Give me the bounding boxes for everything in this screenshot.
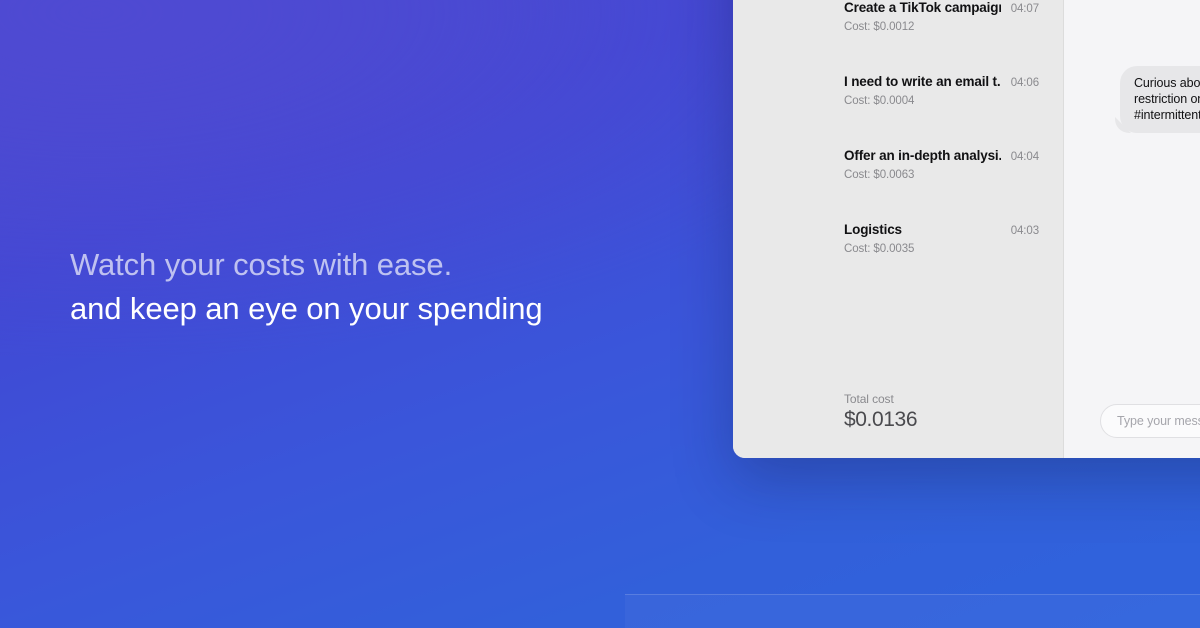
conversation-cost: Cost: $0.0035 xyxy=(844,243,1039,255)
conversation-header: Logistics 04:03 xyxy=(844,222,1039,237)
conversation-list-item[interactable]: Offer an in-depth analysi... 04:04 Cost:… xyxy=(733,148,1063,222)
hero-copy: Watch your costs with ease. and keep an … xyxy=(70,243,690,331)
message-thread: Curious about the effects of calorie res… xyxy=(1064,0,1200,388)
message-input[interactable]: Type your message... xyxy=(1100,404,1200,438)
conversation-title: Logistics xyxy=(844,222,902,237)
conversation-header: I need to write an email t... 04:06 xyxy=(844,74,1039,89)
conversation-list-item[interactable]: Create a TikTok campaign... 04:07 Cost: … xyxy=(733,0,1063,74)
app-window: Create a TikTok campaign... 04:07 Cost: … xyxy=(733,0,1200,458)
conversation-list-item[interactable]: I need to write an email t... 04:06 Cost… xyxy=(733,74,1063,148)
message-input-placeholder: Type your message... xyxy=(1117,414,1200,428)
conversation-timestamp: 04:07 xyxy=(1011,3,1039,15)
conversation-header: Offer an in-depth analysi... 04:04 xyxy=(844,148,1039,163)
conversation-sidebar: Create a TikTok campaign... 04:07 Cost: … xyxy=(733,0,1064,458)
conversation-list[interactable]: Create a TikTok campaign... 04:07 Cost: … xyxy=(733,0,1063,392)
message-composer: Type your message... xyxy=(1064,388,1200,458)
background-accent-sheet xyxy=(625,594,1200,628)
conversation-timestamp: 04:03 xyxy=(1011,225,1039,237)
hero-headline-line-2: and keep an eye on your spending xyxy=(70,287,690,331)
conversation-title: Create a TikTok campaign... xyxy=(844,0,1001,15)
total-cost-block: Total cost $0.0136 xyxy=(733,392,1063,458)
message-row: Curious about the effects of calorie res… xyxy=(1064,66,1200,133)
chat-pane: Curious about the effects of calorie res… xyxy=(1064,0,1200,458)
message-bubble-assistant: Curious about the effects of calorie res… xyxy=(1120,66,1200,133)
conversation-header: Create a TikTok campaign... 04:07 xyxy=(844,0,1039,15)
hero-headline-line-1: Watch your costs with ease. xyxy=(70,243,690,287)
conversation-timestamp: 04:04 xyxy=(1011,151,1039,163)
conversation-title: Offer an in-depth analysi... xyxy=(844,148,1001,163)
message-text: Curious about the effects of calorie res… xyxy=(1134,76,1200,122)
total-cost-value: $0.0136 xyxy=(844,408,1039,432)
conversation-cost: Cost: $0.0063 xyxy=(844,169,1039,181)
conversation-cost: Cost: $0.0004 xyxy=(844,95,1039,107)
conversation-title: I need to write an email t... xyxy=(844,74,1001,89)
conversation-timestamp: 04:06 xyxy=(1011,77,1039,89)
conversation-list-item[interactable]: Logistics 04:03 Cost: $0.0035 xyxy=(733,222,1063,296)
conversation-cost: Cost: $0.0012 xyxy=(844,21,1039,33)
total-cost-label: Total cost xyxy=(844,392,1039,406)
